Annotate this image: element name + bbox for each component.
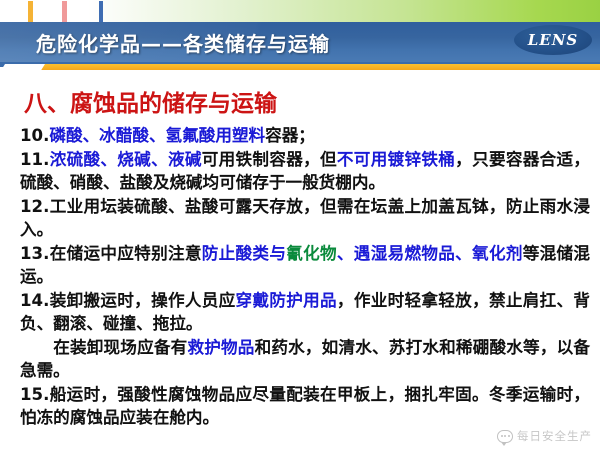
top-gradient-bar [88,0,600,22]
watermark: 每日安全生产 [497,428,592,444]
slide-body: 10.磷酸、冰醋酸、氢氟酸用塑料容器；11.浓硫酸、烧碱、液碱可用铁制容器，但不… [0,120,600,430]
item-number: 10. [20,126,49,145]
item-number: 15. [20,385,49,404]
text-run: 氰化物 [286,244,337,263]
speech-bubble-icon [497,430,513,443]
text-run: 、遇湿易燃物品、氧化剂 [337,244,523,263]
body-paragraph: 10.磷酸、冰醋酸、氢氟酸用塑料容器； [20,124,590,148]
pink-tick [62,1,67,22]
header-title: 危险化学品——各类储存与运输 [36,28,330,57]
page-title: 八、腐蚀品的储存与运输 [0,78,600,120]
body-paragraph: 13.在储运中应特别注意防止酸类与氰化物、遇湿易燃物品、氧化剂等混储混运。 [20,242,590,289]
body-paragraph: 12.工业用坛装硫酸、盐酸可露天存放，但需在坛盖上加盖瓦钵，防止雨水浸入。 [20,195,590,242]
header-yellow-rail [30,64,600,70]
body-paragraph: 11.浓硫酸、烧碱、液碱可用铁制容器，但不可用镀锌铁桶，只要容器合适，硫酸、硝酸… [20,148,590,195]
text-run: 磷酸、冰醋酸、氢氟酸用 [49,126,232,145]
text-run: 救护物品 [187,338,254,357]
text-run: 在储运中应特别注意 [49,244,201,263]
blue-tick [99,1,103,22]
text-run: 穿戴防护用品 [236,291,337,310]
item-number: 14. [20,291,49,310]
header-rail-notch [0,64,45,72]
text-run: 容器； [265,126,315,145]
body-paragraph: 14.装卸搬运时，操作人员应穿戴防护用品，作业时轻拿轻放，禁止肩扛、背负、翻滚、… [20,289,590,336]
text-run: 船运时，强酸性腐蚀物品应尽量配装在甲板上，捆扎牢固。冬季运输时，怕冻的腐蚀品应装… [20,385,590,428]
item-number: 12. [20,197,49,216]
text-run: 可用铁制容器，但 [202,150,337,169]
lens-logo-label: LENS [514,25,592,55]
text-run: 装卸搬运时，操作人员应 [49,291,235,310]
text-run: 浓硫酸、烧碱、液碱 [49,150,201,169]
text-run: 防止酸类与 [202,244,286,263]
text-run: 工业用坛装硫酸、盐酸可露天存放，但需在坛盖上加盖瓦钵，防止雨水浸入。 [20,197,590,240]
body-paragraph: 15.船运时，强酸性腐蚀物品应尽量配装在甲板上，捆扎牢固。冬季运输时，怕冻的腐蚀… [20,383,590,430]
item-number: 11. [20,150,49,169]
item-number: 13. [20,244,49,263]
slide-header: 危险化学品——各类储存与运输 [0,22,600,62]
body-paragraph: 在装卸现场应备有救护物品和药水，如清水、苏打水和稀硼酸水等，以备急需。 [20,336,590,383]
text-run: 不可用镀锌铁桶 [337,150,455,169]
text-run: 塑料 [232,126,265,145]
text-run: 在装卸现场应备有 [53,338,187,357]
orange-tick [28,1,33,22]
slide-content: 八、腐蚀品的储存与运输 10.磷酸、冰醋酸、氢氟酸用塑料容器；11.浓硫酸、烧碱… [0,78,600,450]
top-decorative-strip [0,0,600,22]
lens-logo: LENS [514,25,592,55]
watermark-label: 每日安全生产 [517,428,592,444]
